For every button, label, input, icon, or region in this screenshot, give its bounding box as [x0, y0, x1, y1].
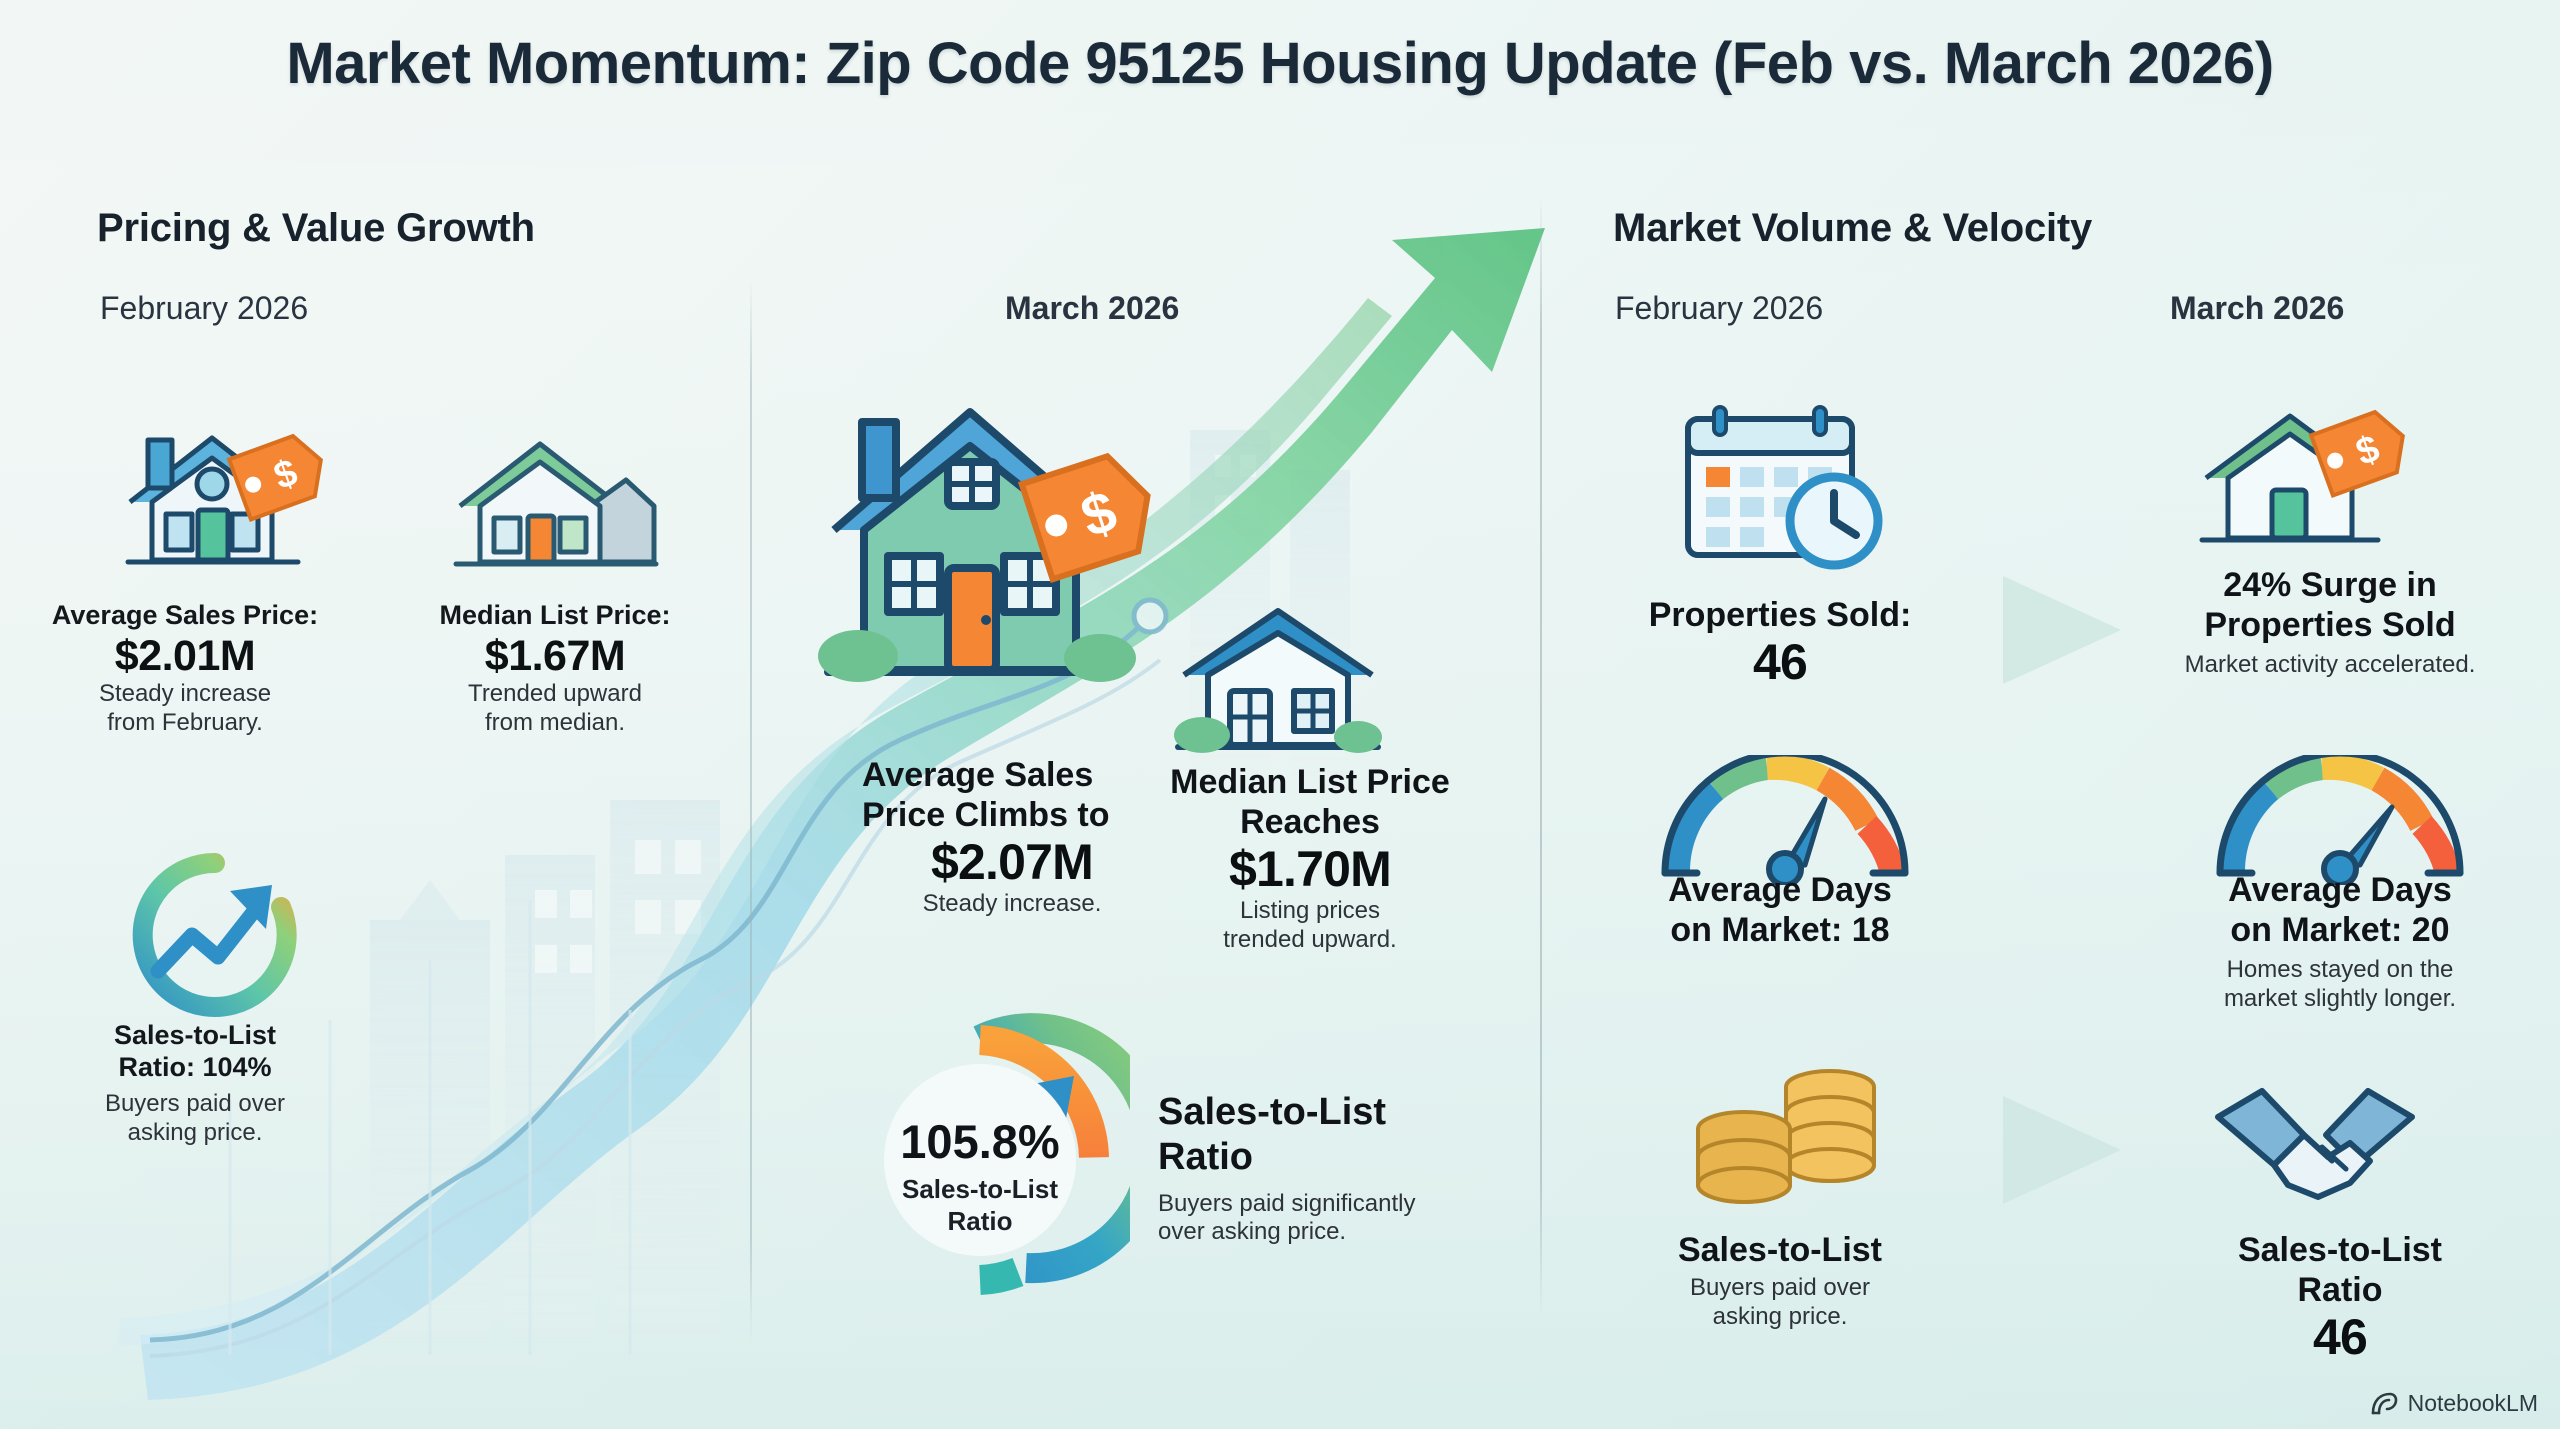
right-panel-mar-label: March 2026	[2170, 290, 2344, 327]
metric-sub: Trended upward from median.	[390, 680, 720, 738]
house-green-roof-icon	[440, 420, 670, 580]
right-panel-heading: Market Volume & Velocity	[1613, 206, 2092, 251]
metric-label: Sales-to-List Ratio	[2150, 1230, 2530, 1310]
gauge-icon	[2210, 755, 2470, 885]
metric-label: Sales-to-List Ratio: 104%	[45, 1020, 345, 1084]
small-house-blue-roof-icon	[1160, 595, 1410, 775]
growth-arrow-circle-icon	[110, 845, 320, 1025]
chevron-right-icon	[1995, 1090, 2145, 1210]
metric-value: $2.01M	[20, 632, 350, 680]
metric-label: Average Sales Price Climbs to	[862, 755, 1162, 835]
svg-text:Ratio: Ratio	[948, 1206, 1013, 1236]
metric-properties-sold-feb: Properties Sold: 46	[1590, 595, 1970, 690]
metric-sub: Steady increase.	[862, 890, 1162, 919]
gauge-icon	[1655, 755, 1915, 885]
watermark-label: NotebookLM	[2408, 1390, 2538, 1417]
metric-label: Average Days on Market: 20	[2150, 870, 2530, 950]
metric-days-on-market-feb: Average Days on Market: 18	[1590, 870, 1970, 950]
page-title: Market Momentum: Zip Code 95125 Housing …	[0, 30, 2560, 97]
metric-label: Sales-to-List Ratio	[1158, 1090, 1498, 1180]
metric-value: 46	[1590, 635, 1970, 690]
metric-sub: Buyers paid over asking price.	[45, 1090, 345, 1148]
metric-sub: Steady increase from February.	[20, 680, 350, 738]
metric-sub: Listing prices trended upward.	[1160, 897, 1460, 955]
donut-gauge-arrow-icon: 105.8% Sales-to-List Ratio	[830, 1010, 1130, 1310]
metric-sales-to-list-feb-right: Sales-to-List Buyers paid over asking pr…	[1590, 1230, 1970, 1332]
watermark: NotebookLM	[2369, 1390, 2538, 1417]
svg-text:Sales-to-List: Sales-to-List	[902, 1174, 1058, 1204]
metric-value: $1.67M	[390, 632, 720, 680]
metric-properties-sold-mar: 24% Surge in Properties Sold Market acti…	[2150, 565, 2510, 680]
metric-sub: Buyers paid over asking price.	[1590, 1274, 1970, 1332]
metric-label: Average Sales Price:	[20, 600, 350, 632]
metric-label: Median List Price Reaches	[1160, 762, 1460, 842]
donut-value: 105.8%	[900, 1115, 1059, 1168]
metric-avg-sales-price-feb: Average Sales Price: $2.01M Steady incre…	[20, 600, 350, 738]
metric-sales-to-list-feb: Sales-to-List Ratio: 104% Buyers paid ov…	[45, 1020, 345, 1147]
metric-value: $2.07M	[862, 835, 1162, 890]
house-price-tag-icon: $	[100, 410, 330, 580]
metric-label: Properties Sold:	[1590, 595, 1970, 635]
metric-median-list-price-mar: Median List Price Reaches $1.70M Listing…	[1160, 762, 1460, 955]
metric-label: Median List Price:	[390, 600, 720, 632]
metric-days-on-market-mar: Average Days on Market: 20 Homes stayed …	[2150, 870, 2530, 1014]
notebooklm-icon	[2369, 1391, 2399, 1417]
metric-value: 46	[2150, 1310, 2530, 1365]
chevron-right-icon	[1995, 570, 2145, 690]
handshake-icon	[2200, 1065, 2430, 1225]
metric-sales-to-list-mar: Sales-to-List Ratio Buyers paid signific…	[1158, 1090, 1498, 1247]
big-house-price-tag-icon: $	[800, 370, 1160, 730]
infographic-canvas: Market Momentum: Zip Code 95125 Housing …	[0, 0, 2560, 1429]
left-panel-heading: Pricing & Value Growth	[97, 206, 535, 251]
metric-sub: Homes stayed on the market slightly long…	[2150, 956, 2530, 1014]
metric-value: $1.70M	[1160, 842, 1460, 897]
metric-sub: Buyers paid significantly over asking pr…	[1158, 1190, 1498, 1248]
right-panel-feb-label: February 2026	[1615, 290, 1823, 327]
metric-median-list-price-feb: Median List Price: $1.67M Trended upward…	[390, 600, 720, 738]
metric-label: Average Days on Market: 18	[1590, 870, 1970, 950]
metric-label: 24% Surge in Properties Sold	[2150, 565, 2510, 645]
metric-sub: Market activity accelerated.	[2150, 651, 2510, 680]
metric-label: Sales-to-List	[1590, 1230, 1970, 1270]
coin-stacks-icon	[1680, 1055, 1900, 1225]
metric-avg-sales-price-mar: Average Sales Price Climbs to $2.07M Ste…	[862, 755, 1162, 919]
metric-sales-to-list-mar-right: Sales-to-List Ratio 46	[2150, 1230, 2530, 1365]
left-panel-column-divider	[750, 280, 752, 1340]
left-panel-feb-label: February 2026	[100, 290, 308, 327]
calendar-clock-icon	[1670, 395, 1900, 575]
house-price-tag-icon: $	[2180, 390, 2410, 560]
panel-divider	[1540, 196, 1542, 1316]
left-panel-mar-label: March 2026	[1005, 290, 1179, 327]
